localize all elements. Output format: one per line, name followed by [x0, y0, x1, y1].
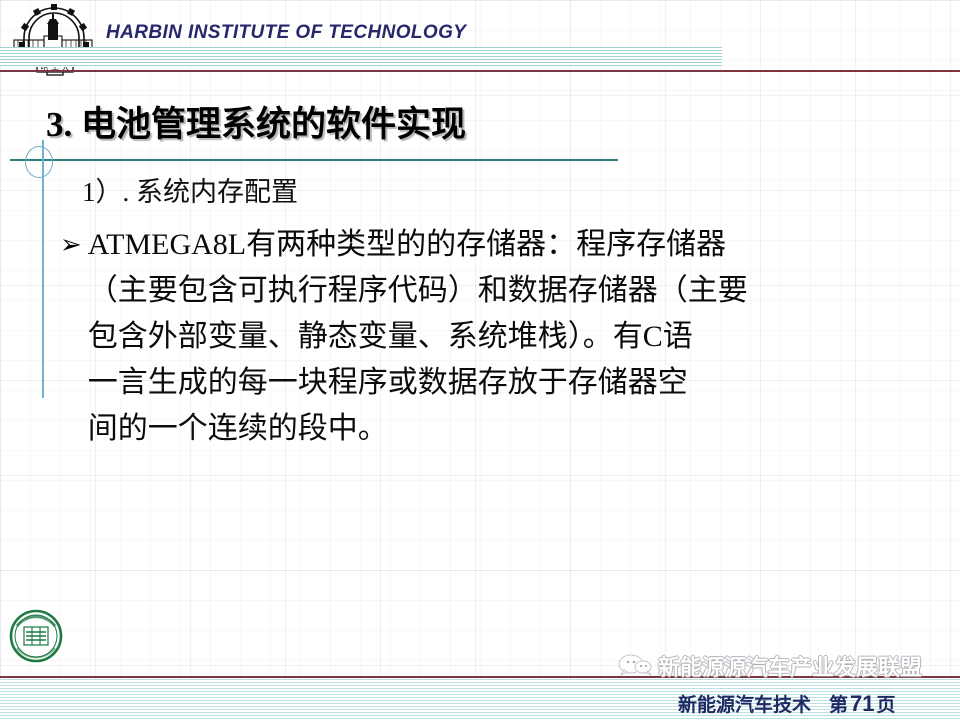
arrow-bullet-icon: ➢	[60, 222, 82, 268]
page-title: 3. 电池管理系统的软件实现	[46, 96, 466, 147]
institution-name: HARBIN INSTITUTE OF TECHNOLOGY	[106, 22, 466, 44]
paragraph-line: 包含外部变量、静态变量、系统堆栈）。有C语	[88, 314, 890, 360]
title-underline	[10, 159, 618, 161]
green-circular-seal-icon	[8, 608, 64, 664]
page-number: 71	[848, 691, 876, 716]
footer-caption: 新能源汽车技术第71页	[678, 690, 896, 717]
header-stripe-band	[0, 47, 722, 67]
paragraph-line: （主要包含可执行程序代码）和数据存储器（主要	[88, 268, 890, 314]
paragraph-line: 间的一个连续的段中。	[88, 406, 890, 452]
bullet-item: ➢ ATMEGA8L有两种类型的的存储器：程序存储器 （主要包含可执行程序代码）…	[60, 222, 890, 452]
wechat-bubble-icon	[618, 652, 652, 681]
watermark-text: 新能源源汽车产业发展联盟	[658, 650, 922, 682]
content-bullet-block: ➢ ATMEGA8L有两种类型的的存储器：程序存储器 （主要包含可执行程序代码）…	[60, 222, 890, 452]
slide-canvas: 1920 哈 工 大 HARBIN INSTITUTE OF TECHNOLOG…	[0, 0, 960, 720]
vertical-accent-line	[42, 140, 44, 398]
paragraph-line: ATMEGA8L有两种类型的的存储器：程序存储器	[88, 222, 890, 268]
paragraph-line: 一言生成的每一块程序或数据存放于存储器空	[88, 360, 890, 406]
decorative-circle-icon	[25, 146, 53, 178]
bullet-paragraph: ATMEGA8L有两种类型的的存储器：程序存储器 （主要包含可执行程序代码）和数…	[88, 222, 890, 452]
page-prefix: 第	[829, 695, 848, 716]
section-subheading: 1）. 系统内存配置	[82, 170, 298, 209]
header-divider	[0, 70, 960, 72]
watermark: 新能源源汽车产业发展联盟	[618, 650, 922, 682]
page-suffix: 页	[877, 695, 896, 716]
course-name: 新能源汽车技术	[678, 695, 811, 716]
